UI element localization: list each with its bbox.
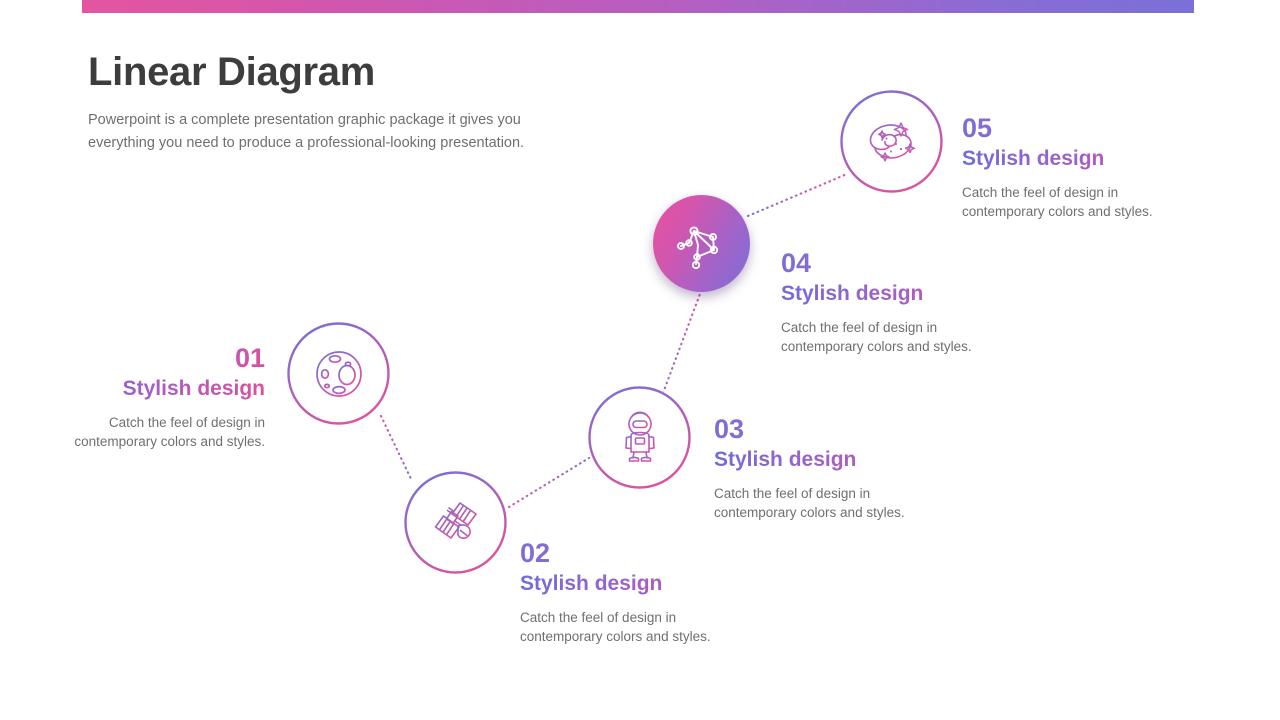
item-text-02: 02 Stylish design Catch the feel of desi… xyxy=(520,537,760,646)
item-number-02: 02 xyxy=(520,537,760,569)
constellation-icon xyxy=(653,195,750,292)
item-text-04: 04 Stylish design Catch the feel of desi… xyxy=(781,247,1011,356)
item-heading-04: Stylish design xyxy=(781,280,1011,308)
item-heading-01: Stylish design xyxy=(30,375,265,403)
item-text-03: 03 Stylish design Catch the feel of desi… xyxy=(714,413,944,522)
item-body-05: Catch the feel of design in contemporary… xyxy=(962,183,1192,221)
node-circle-03[interactable] xyxy=(588,386,691,489)
connector-03-04 xyxy=(663,294,700,393)
connector-02-03 xyxy=(509,458,589,507)
planet-icon xyxy=(287,322,390,425)
item-body-02: Catch the feel of design in contemporary… xyxy=(520,608,760,646)
connector-04-05 xyxy=(748,174,847,216)
astronaut-icon xyxy=(588,386,691,489)
item-number-05: 05 xyxy=(962,112,1192,144)
top-accent-bar xyxy=(82,0,1194,13)
item-body-03: Catch the feel of design in contemporary… xyxy=(714,484,944,522)
node-circle-04[interactable] xyxy=(653,195,750,292)
item-number-01: 01 xyxy=(30,342,265,374)
item-body-04: Catch the feel of design in contemporary… xyxy=(781,318,1011,356)
node-circle-02[interactable] xyxy=(404,471,507,574)
item-heading-05: Stylish design xyxy=(962,145,1192,173)
galaxy-icon xyxy=(840,90,943,193)
page-title: Linear Diagram xyxy=(88,46,375,98)
item-body-01: Catch the feel of design in contemporary… xyxy=(30,413,265,451)
item-heading-02: Stylish design xyxy=(520,570,760,598)
satellite-icon xyxy=(404,471,507,574)
item-number-04: 04 xyxy=(781,247,1011,279)
item-heading-03: Stylish design xyxy=(714,446,944,474)
item-text-01: 01 Stylish design Catch the feel of desi… xyxy=(30,342,265,451)
item-number-03: 03 xyxy=(714,413,944,445)
page-subtitle: Powerpoint is a complete presentation gr… xyxy=(88,109,588,155)
node-circle-05[interactable] xyxy=(840,90,943,193)
slide-canvas: Linear Diagram Powerpoint is a complete … xyxy=(0,0,1280,720)
item-text-05: 05 Stylish design Catch the feel of desi… xyxy=(962,112,1192,221)
node-circle-01[interactable] xyxy=(287,322,390,425)
